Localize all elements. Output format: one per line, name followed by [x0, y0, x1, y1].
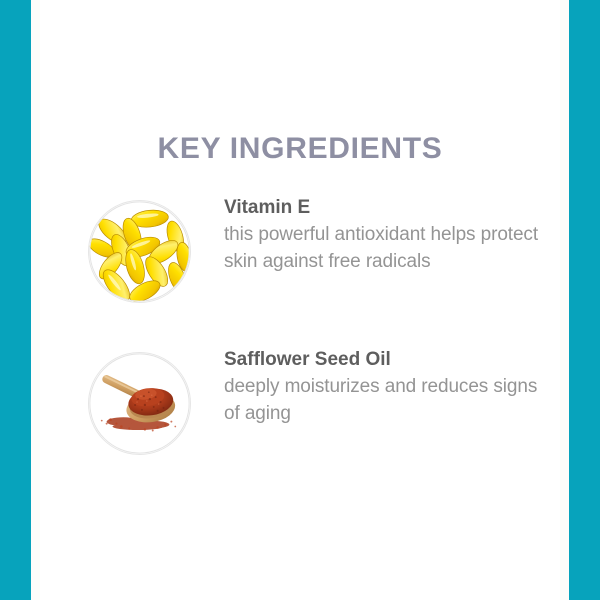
vitamin-e-text-column: Vitamin E this powerful antioxidant help…	[224, 196, 554, 275]
left-gutter	[31, 0, 40, 600]
ingredient-description: deeply moisturizes and reduces signs of …	[224, 373, 554, 427]
page-title: KEY INGREDIENTS	[40, 132, 560, 166]
ingredient-name: Vitamin E	[224, 196, 554, 220]
safflower-seed-wooden-spoon-photo	[88, 352, 191, 455]
right-gutter	[560, 0, 569, 600]
vitamin-e-softgel-capsules-photo	[88, 200, 191, 303]
content-area: KEY INGREDIENTS	[40, 0, 560, 600]
safflower-text-column: Safflower Seed Oil deeply moisturizes an…	[224, 348, 554, 427]
left-accent-bar	[0, 0, 31, 600]
ingredient-description: this powerful antioxidant helps protect …	[224, 221, 554, 275]
ingredient-name: Safflower Seed Oil	[224, 348, 554, 372]
right-accent-bar	[569, 0, 600, 600]
key-ingredients-card: KEY INGREDIENTS	[0, 0, 600, 600]
